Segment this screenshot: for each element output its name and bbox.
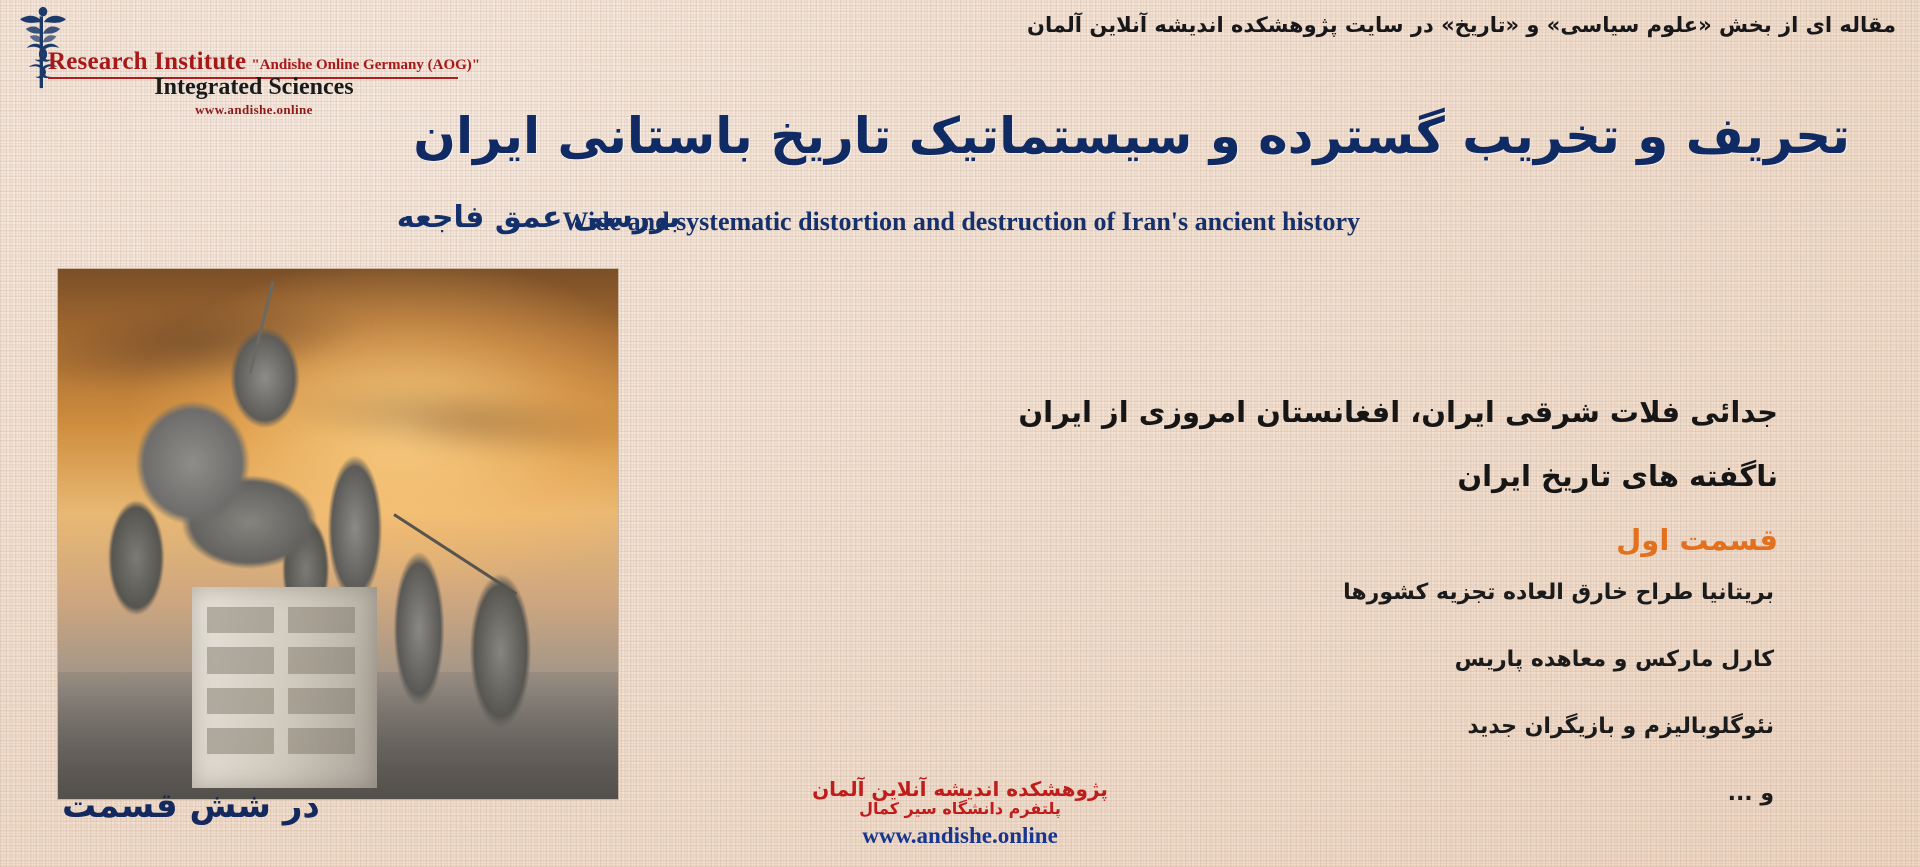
rider-silhouette: [209, 301, 321, 449]
list-item: نئوگلوبالیزم و بازیگران جدید: [1343, 714, 1774, 739]
body-line: ناگفته های تاریخ ایران: [1018, 459, 1778, 493]
header-kicker: مقاله ای از بخش «علوم سیاسی» و «تاریخ» د…: [1027, 13, 1896, 37]
soldier-silhouette: [377, 523, 461, 735]
list-item: کارل مارکس و معاهده پاریس: [1343, 647, 1774, 672]
statue-photo: [57, 268, 619, 800]
institute-subname: "Andishe Online Germany (AOG)": [251, 57, 480, 73]
list-item: بریتانیا طراح خارق العاده تجزیه کشورها: [1343, 580, 1774, 605]
institute-name: Research Institute: [48, 48, 246, 75]
page-subtitle-fa: بررسی عمق فاجعه: [397, 200, 680, 235]
page-title-fa: تحریف و تخریب گسترده و سیستماتیک تاریخ ب…: [413, 110, 1850, 163]
brand-logo-block: Research Institute "Andishe Online Germa…: [0, 4, 470, 109]
page-subtitle-en: Wide and systematic distortion and destr…: [562, 207, 1360, 237]
statue-plinth: [192, 587, 377, 788]
brand-website[interactable]: www.andishe.online: [64, 102, 444, 118]
poster-canvas: Research Institute "Andishe Online Germa…: [0, 0, 1920, 867]
institute-tagline: Integrated Sciences: [64, 74, 444, 101]
body-line: جدائی فلات شرقی ایران، افغانستان امروزی …: [1018, 395, 1778, 429]
parts-count-badge: در شش قسمت: [62, 786, 320, 826]
footer-url[interactable]: www.andishe.online: [0, 823, 1920, 849]
soldier-silhouette: [450, 545, 551, 757]
body-headlines: جدائی فلات شرقی ایران، افغانستان امروزی …: [1018, 395, 1778, 557]
part-label: قسمت اول: [1018, 523, 1778, 557]
